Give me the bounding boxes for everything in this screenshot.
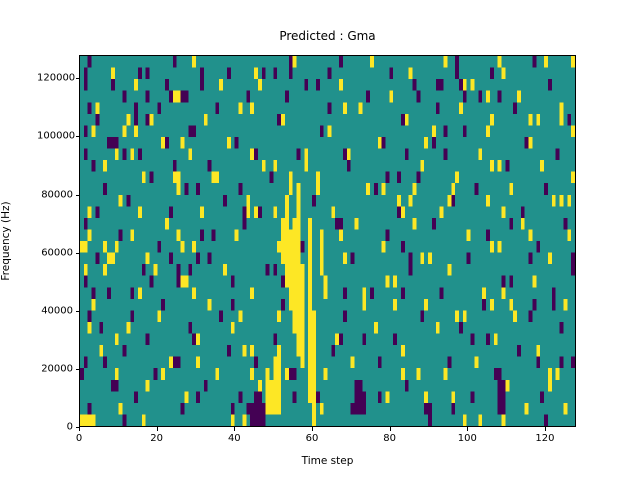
y-tick-label: 80000 [37,189,73,200]
x-tick-label: 100 [458,433,477,444]
x-tick-mark [312,427,313,431]
x-tick-label: 40 [228,433,241,444]
heatmap-image [80,56,575,426]
x-tick-label: 120 [535,433,554,444]
y-tick-label: 0 [37,422,73,433]
x-tick-mark [79,427,80,431]
x-tick-mark [234,427,235,431]
y-tick-mark [76,369,80,370]
y-tick-mark [76,78,80,79]
y-tick-label: 120000 [37,73,73,84]
y-tick-mark [76,195,80,196]
x-tick-mark [157,427,158,431]
y-axis-label: Frequency (Hz) [0,201,12,280]
y-tick-mark [76,427,80,428]
y-tick-mark [76,311,80,312]
x-axis-label: Time step [79,455,576,467]
x-tick-label: 60 [306,433,319,444]
y-tick-label: 40000 [37,305,73,316]
x-tick-mark [545,427,546,431]
chart-title: Predicted : Gma [79,29,576,43]
y-tick-mark [76,253,80,254]
y-tick-mark [76,136,80,137]
x-tick-mark [390,427,391,431]
y-tick-label: 60000 [37,247,73,258]
x-tick-mark [467,427,468,431]
x-tick-label: 20 [150,433,163,444]
figure-canvas: Predicted : Gma 020406080100120 02000040… [0,0,640,480]
x-tick-label: 80 [383,433,396,444]
heatmap-plot-area [79,55,576,427]
y-tick-label: 20000 [37,363,73,374]
x-tick-label: 0 [76,433,82,444]
y-tick-label: 100000 [37,131,73,142]
